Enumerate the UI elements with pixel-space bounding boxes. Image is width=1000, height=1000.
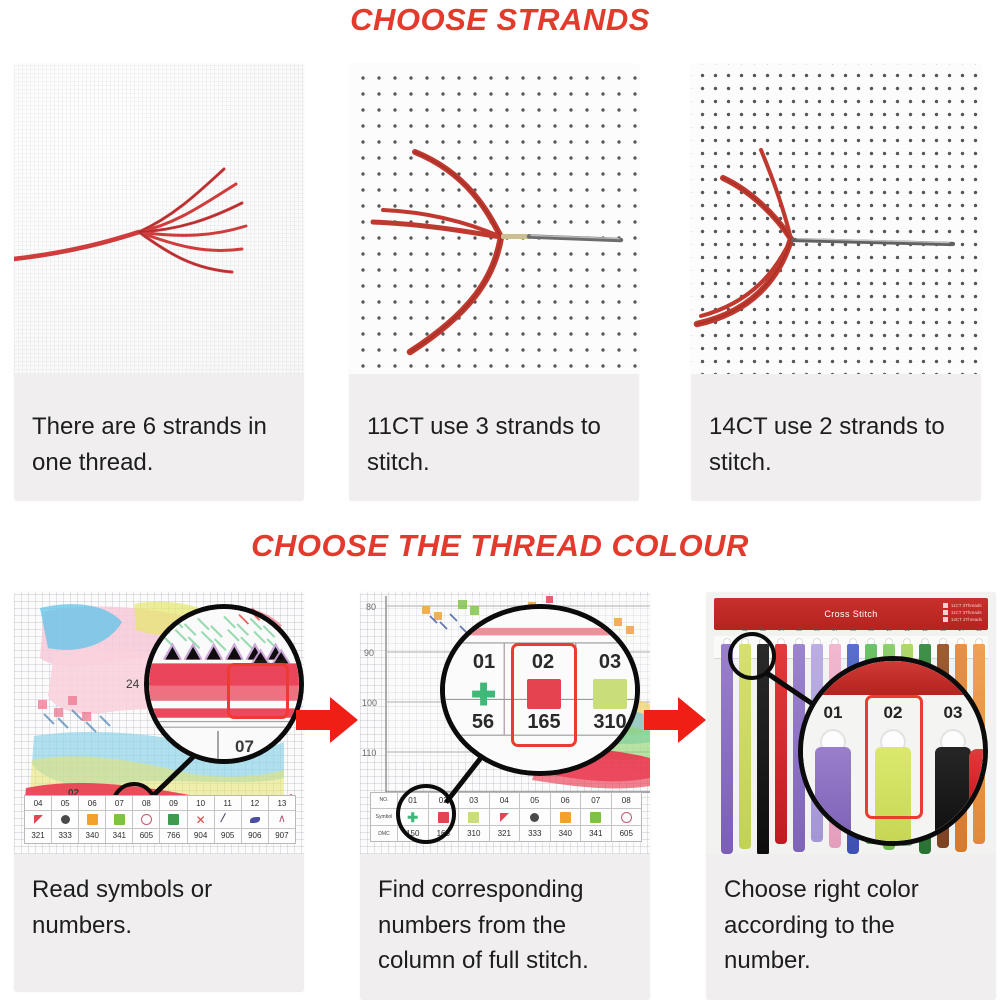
caption-read-symbols: Read symbols or numbers. (14, 872, 304, 943)
photo-legend-chart: 80 90 100 110 NO. Symbol DMC 01 ✚ 150 0 (360, 592, 650, 854)
skein-number: 10 (882, 627, 896, 633)
legend-column: 04 321 (25, 796, 52, 843)
legend-symbol (160, 811, 186, 828)
legend-chip (943, 617, 948, 622)
magnified-skein-number: 03 (931, 703, 975, 723)
row-label-symbol: Symbol (371, 809, 397, 827)
legend-column: 09 766 (160, 796, 187, 843)
skein-number: 07 (828, 627, 842, 633)
thread-card-legend: 11CT 3Threads 11CT 3Threads 14CT 2Thread… (943, 603, 982, 622)
legend-dmc: 905 (215, 829, 241, 843)
legend-dmc: 333 (52, 829, 78, 843)
legend-dmc: 340 (79, 829, 105, 843)
skein-number: 13 (936, 627, 950, 633)
legend-symbol (133, 811, 159, 828)
magnifier-focus-circle (396, 784, 456, 844)
legend-column: 12 906 (242, 796, 269, 843)
legend-number: 07 (581, 793, 611, 809)
legend-number: 08 (612, 793, 642, 809)
legend-symbol (79, 811, 105, 828)
legend-number: 13 (269, 796, 295, 811)
row-label-dmc: DMC (371, 826, 397, 841)
arrow-read-to-find (296, 694, 358, 746)
legend-dmc: 310 (459, 826, 489, 841)
magnified-skein-floss (935, 747, 971, 846)
card-choose-color: Cross Stitch 11CT 3Threads 11CT 3Threads (706, 592, 996, 1000)
arrow-find-to-choose (644, 694, 706, 746)
magnifier-lens-threads: 01 02 03 (798, 656, 988, 846)
legend-column: 11 905 (215, 796, 242, 843)
legend-symbol (52, 811, 78, 828)
magnified-dmc-03: 310 (583, 711, 637, 734)
legend-symbol (490, 809, 520, 827)
skein-number: 09 (864, 627, 878, 633)
skein-number: 05 (792, 627, 806, 633)
legend-column: 08 605 (612, 793, 642, 841)
legend-number: 05 (520, 793, 550, 809)
legend-number: 09 (160, 796, 186, 811)
magnifier-lens-pattern: 2 07 (144, 604, 304, 764)
legend-symbol: ∧ (269, 811, 295, 828)
caption-six-strands: There are 6 strands in one thread. (14, 409, 304, 480)
legend-dmc: 766 (160, 829, 186, 843)
legend-number: 03 (459, 793, 489, 809)
magnified-dmc-01: 56 (459, 711, 507, 734)
legend-number: 06 (551, 793, 581, 809)
svg-text:100: 100 (362, 698, 377, 708)
legend-column: 13 ∧ 907 (269, 796, 295, 843)
photo-thread-organizer: Cross Stitch 11CT 3Threads 11CT 3Threads (706, 592, 996, 854)
legend-dmc: 321 (25, 829, 51, 843)
legend-text: 11CT 3Threads (951, 603, 982, 608)
legend-symbol: ✕ (188, 811, 214, 828)
section-heading-choose-strands: CHOOSE STRANDS (0, 2, 1000, 38)
legend-number: 06 (79, 796, 105, 811)
legend-text: 11CT 3Threads (951, 610, 982, 615)
legend-number: 04 (25, 796, 51, 811)
legend-column: 03 310 (459, 793, 490, 841)
legend-symbol (25, 811, 51, 828)
infographic-page: CHOOSE STRANDS (0, 0, 1000, 1000)
magnified-header-01: 01 (461, 651, 507, 674)
legend-dmc: 333 (520, 826, 550, 841)
legend-chip (943, 610, 948, 615)
skein-number: 04 (774, 627, 788, 633)
card-14ct: 14CT use 2 strands to stitch. (691, 64, 981, 501)
legend-symbol (106, 811, 132, 828)
legend-column: 05 333 (520, 793, 551, 841)
legend-column: 10 ✕ 904 (188, 796, 215, 843)
legend-text: 14CT 2Threads (951, 617, 982, 622)
legend-symbol (612, 809, 642, 827)
legend-dmc: 341 (581, 826, 611, 841)
card-11ct: 11CT use 3 strands to stitch. (349, 64, 639, 501)
magnified-cell-label-right: 07 (235, 737, 254, 757)
skein-floss (775, 644, 787, 844)
svg-text:110: 110 (362, 748, 376, 758)
thread-card-header: Cross Stitch 11CT 3Threads 11CT 3Threads (714, 598, 988, 630)
legend-symbol (520, 809, 550, 827)
legend-number: 08 (133, 796, 159, 811)
legend-dmc: 605 (133, 829, 159, 843)
row-label-no: NO. (371, 793, 397, 809)
highlight-box-pattern (227, 663, 289, 719)
legend-dmc: 907 (269, 829, 295, 843)
magnified-symbol-plus: ✚ (471, 681, 496, 711)
pattern-legend-table: 04 321 05 333 06 340 07 341 (24, 795, 296, 844)
skein-number: 08 (846, 627, 860, 633)
card-find-numbers: 80 90 100 110 NO. Symbol DMC 01 ✚ 150 0 (360, 592, 650, 1000)
skein-number: 11 (900, 627, 914, 633)
thread-card-title: Cross Stitch (824, 609, 877, 619)
legend-number: 07 (106, 796, 132, 811)
highlight-box-column-02 (511, 643, 577, 747)
caption-choose-color: Choose right color according to the numb… (706, 872, 996, 979)
thread-card-legend-item: 11CT 3Threads (943, 603, 982, 608)
needle-two-strands-illustration (691, 64, 981, 374)
legend-column: 04 321 (490, 793, 521, 841)
photo-six-strands (14, 64, 304, 374)
skein-number: 14 (954, 627, 968, 633)
skein-number: 06 (810, 627, 824, 633)
legend-symbol (215, 811, 241, 828)
thread-card-legend-item: 14CT 2Threads (943, 617, 982, 622)
legend-row-labels: NO. Symbol DMC (371, 793, 398, 841)
legend-chip (943, 603, 948, 608)
legend-number: 04 (490, 793, 520, 809)
needle-three-strands-illustration (349, 64, 639, 374)
photo-11ct-needle (349, 64, 639, 374)
legend-symbol (242, 811, 268, 828)
legend-dmc: 321 (490, 826, 520, 841)
skein-number: 12 (918, 627, 932, 633)
legend-number: 12 (242, 796, 268, 811)
svg-text:90: 90 (364, 648, 374, 658)
magnified-skein-number: 01 (811, 703, 855, 723)
legend-column: 07 341 (106, 796, 133, 843)
legend-column: 06 340 (79, 796, 106, 843)
magnified-header-03: 03 (585, 651, 635, 674)
caption-14ct: 14CT use 2 strands to stitch. (691, 409, 981, 480)
legend-number: 10 (188, 796, 214, 811)
section-heading-choose-thread-colour: CHOOSE THE THREAD COLOUR (0, 528, 1000, 564)
legend-symbol (459, 809, 489, 827)
legend-dmc: 906 (242, 829, 268, 843)
svg-text:24: 24 (126, 677, 140, 691)
photo-pattern-chart: 24 (14, 592, 304, 854)
caption-find-numbers: Find corresponding numbers from the colu… (360, 872, 650, 979)
legend-column: 05 333 (52, 796, 79, 843)
legend-column: 08 605 (133, 796, 160, 843)
magnified-cell-label-left: 2 (165, 737, 174, 757)
magnifier-lens-legend: 01 02 03 ✚ 56 165 310 (440, 604, 640, 776)
legend-column: 06 340 (551, 793, 582, 841)
caption-11ct: 11CT use 3 strands to stitch. (349, 409, 639, 480)
photo-14ct-needle (691, 64, 981, 374)
legend-dmc: 340 (551, 826, 581, 841)
legend-dmc: 904 (188, 829, 214, 843)
card-six-strands: There are 6 strands in one thread. (14, 64, 304, 501)
six-strands-illustration (14, 64, 304, 374)
legend-column: 07 341 (581, 793, 612, 841)
thread-card-legend-item: 11CT 3Threads (943, 610, 982, 615)
skein-floss (721, 644, 733, 854)
skein-number: 15 (972, 627, 986, 633)
magnified-symbol-green-square (593, 679, 627, 709)
legend-number: 05 (52, 796, 78, 811)
svg-text:80: 80 (366, 602, 376, 612)
legend-number: 11 (215, 796, 241, 811)
legend-symbol (551, 809, 581, 827)
card-read-symbols: 24 (14, 592, 304, 992)
legend-dmc: 605 (612, 826, 642, 841)
magnified-skein-floss (815, 747, 851, 846)
legend-dmc: 341 (106, 829, 132, 843)
highlight-box-skein-02 (865, 695, 923, 819)
legend-symbol (581, 809, 611, 827)
